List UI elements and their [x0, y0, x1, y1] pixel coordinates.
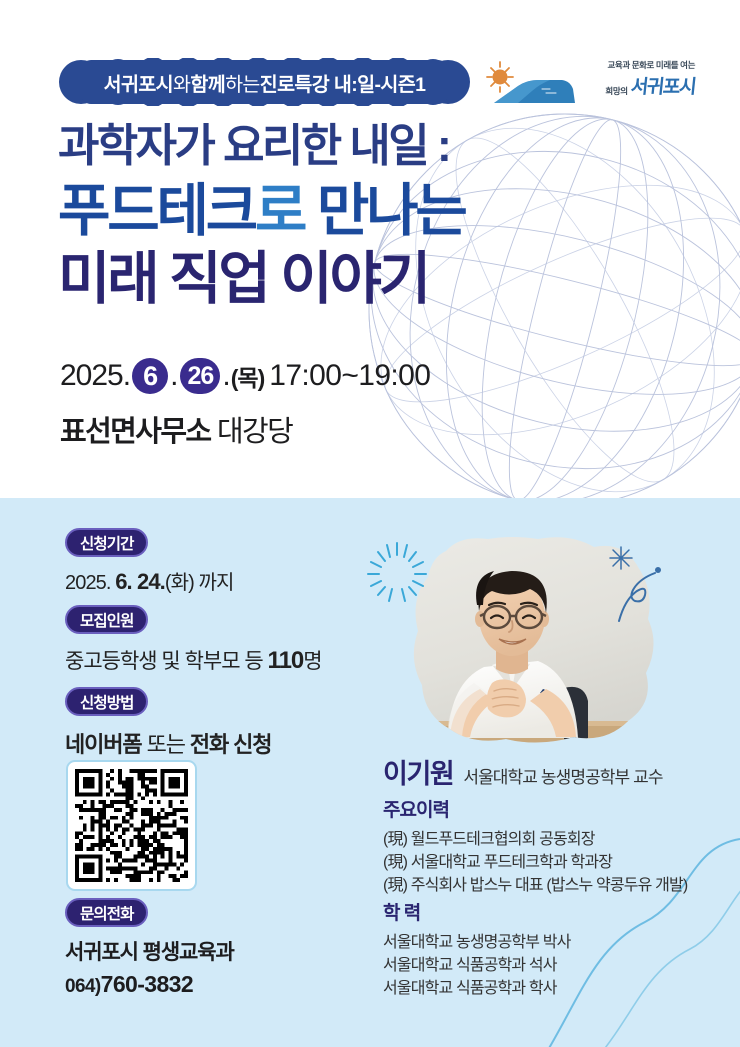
apply-period-label: 신청기간 [65, 528, 148, 557]
speaker-affiliation: 서울대학교 농생명공학부 교수 [463, 763, 662, 788]
speaker-name-row: 이기원 서울대학교 농생명공학부 교수 [383, 752, 663, 791]
capacity-count: 110 [268, 647, 304, 674]
career-list: (現) 월드푸드테크협의회 공동회장 (現) 서울대학교 푸드테크학과 학과장 … [383, 828, 687, 897]
title-line-2-c: 만나는 [304, 179, 464, 243]
poster-top-section: 서귀포시와 함께하는 진로특강 내:일-시즌1 [0, 0, 740, 498]
speaker-photo [388, 533, 688, 748]
capacity-block: 모집인원 중고등학생 및 학부모 등 110명 [65, 605, 322, 675]
seogwipo-city-logo: 교육과 문화로 미래를 여는 희망의 서귀포시 [480, 58, 695, 108]
event-month-circle: 6 [132, 358, 168, 394]
apply-period-block: 신청기간 2025. 6. 24.(화) 까지 [65, 528, 234, 595]
sun-mountain-icon [480, 60, 580, 106]
contact-block: 문의전화 서귀포시 평생교육과 064)760-3832 [65, 898, 234, 998]
badge-part-1: 서귀포시 [104, 68, 173, 97]
venue-name: 표선면사무소 [60, 416, 210, 448]
badge-part-4: 하는 [225, 68, 260, 97]
event-dayofweek: (목) [231, 359, 264, 393]
poster-title: 과학자가 요리한 내일 : 푸드테크로 만나는 미래 직업 이야기 [58, 118, 658, 312]
event-time: 17:00~19:00 [269, 359, 430, 393]
capacity-value: 중고등학생 및 학부모 등 110명 [65, 645, 322, 675]
date-separator-2: . [222, 359, 230, 393]
apply-method-or: 또는 [142, 732, 190, 757]
qr-code[interactable] [66, 760, 197, 891]
speaker-name: 이기원 [383, 752, 453, 791]
career-item: (現) 서울대학교 푸드테크학과 학과장 [383, 851, 687, 874]
apply-method-block: 신청방법 네이버폼 또는 전화 신청 [65, 687, 271, 759]
education-item: 서울대학교 식품공학과 학사 [383, 977, 571, 1000]
date-separator-1: . [170, 359, 178, 393]
apply-method-value: 네이버폼 또는 전화 신청 [65, 727, 271, 759]
title-line-2-highlight: 로 [255, 179, 304, 243]
event-day-circle: 26 [180, 358, 220, 394]
apply-method-label: 신청방법 [65, 687, 148, 716]
logo-hope-text: 희망의 [605, 85, 627, 99]
qr-code-canvas[interactable] [75, 769, 188, 882]
apply-method-naver: 네이버폼 [65, 732, 142, 757]
program-badge-text: 서귀포시와 함께하는 진로특강 내:일-시즌1 [57, 58, 472, 106]
apply-period-post: (화) 까지 [165, 572, 234, 594]
career-heading: 주요이력 [383, 795, 687, 822]
event-venue: 표선면사무소 대강당 [60, 408, 292, 450]
contact-label: 문의전화 [65, 898, 148, 927]
capacity-post: 명 [303, 650, 321, 673]
logo-text-group: 교육과 문화로 미래를 여는 희망의 서귀포시 [580, 60, 695, 99]
logo-city-name: 서귀포시 [629, 72, 696, 99]
title-line-2-a: 푸드테크 [58, 179, 255, 243]
education-item: 서울대학교 식품공학과 석사 [383, 954, 571, 977]
event-datetime: 2025. 6 . 26 . (목) 17:00~19:00 [60, 358, 430, 394]
logo-tagline: 교육과 문화로 미래를 여는 [580, 60, 695, 71]
speaker-career-section: 주요이력 (現) 월드푸드테크협의회 공동회장 (現) 서울대학교 푸드테크학과… [383, 795, 687, 897]
title-line-1: 과학자가 요리한 내일 : [58, 118, 658, 174]
apply-method-phone: 전화 신청 [190, 732, 272, 757]
badge-part-3: 함께 [190, 68, 225, 97]
career-item: (現) 월드푸드테크협의회 공동회장 [383, 828, 687, 851]
title-line-3: 미래 직업 이야기 [58, 246, 658, 312]
program-badge: 서귀포시와 함께하는 진로특강 내:일-시즌1 [57, 58, 472, 106]
capacity-label: 모집인원 [65, 605, 148, 634]
badge-part-5: 진로특강 내:일-시즌1 [260, 68, 426, 97]
venue-hall: 대강당 [210, 416, 292, 448]
apply-period-date: 6. 24. [115, 569, 165, 594]
title-line-2: 푸드테크로 만나는 [58, 178, 658, 244]
event-poster: 서귀포시와 함께하는 진로특강 내:일-시즌1 [0, 0, 740, 1047]
capacity-pre: 중고등학생 및 학부모 등 [65, 650, 268, 673]
contact-department: 서귀포시 평생교육과 [65, 936, 234, 966]
badge-part-2: 와 [173, 68, 190, 97]
event-year: 2025. [60, 359, 130, 393]
sunburst-icon [362, 537, 432, 609]
contact-number: 760-3832 [101, 971, 193, 997]
education-list: 서울대학교 농생명공학부 박사 서울대학교 식품공학과 석사 서울대학교 식품공… [383, 931, 571, 1000]
career-item: (現) 주식회사 밥스누 대표 (밥스누 약콩두유 개발) [383, 874, 687, 897]
education-item: 서울대학교 농생명공학부 박사 [383, 931, 571, 954]
apply-period-pre: 2025. [65, 572, 115, 594]
apply-period-value: 2025. 6. 24.(화) 까지 [65, 566, 234, 595]
contact-area-code: 064) [65, 976, 101, 997]
speaker-education-section: 학 력 서울대학교 농생명공학부 박사 서울대학교 식품공학과 석사 서울대학교… [383, 898, 571, 1000]
contact-phone[interactable]: 064)760-3832 [65, 971, 234, 998]
education-heading: 학 력 [383, 898, 571, 925]
sparkle-swirl-icon [603, 543, 673, 625]
